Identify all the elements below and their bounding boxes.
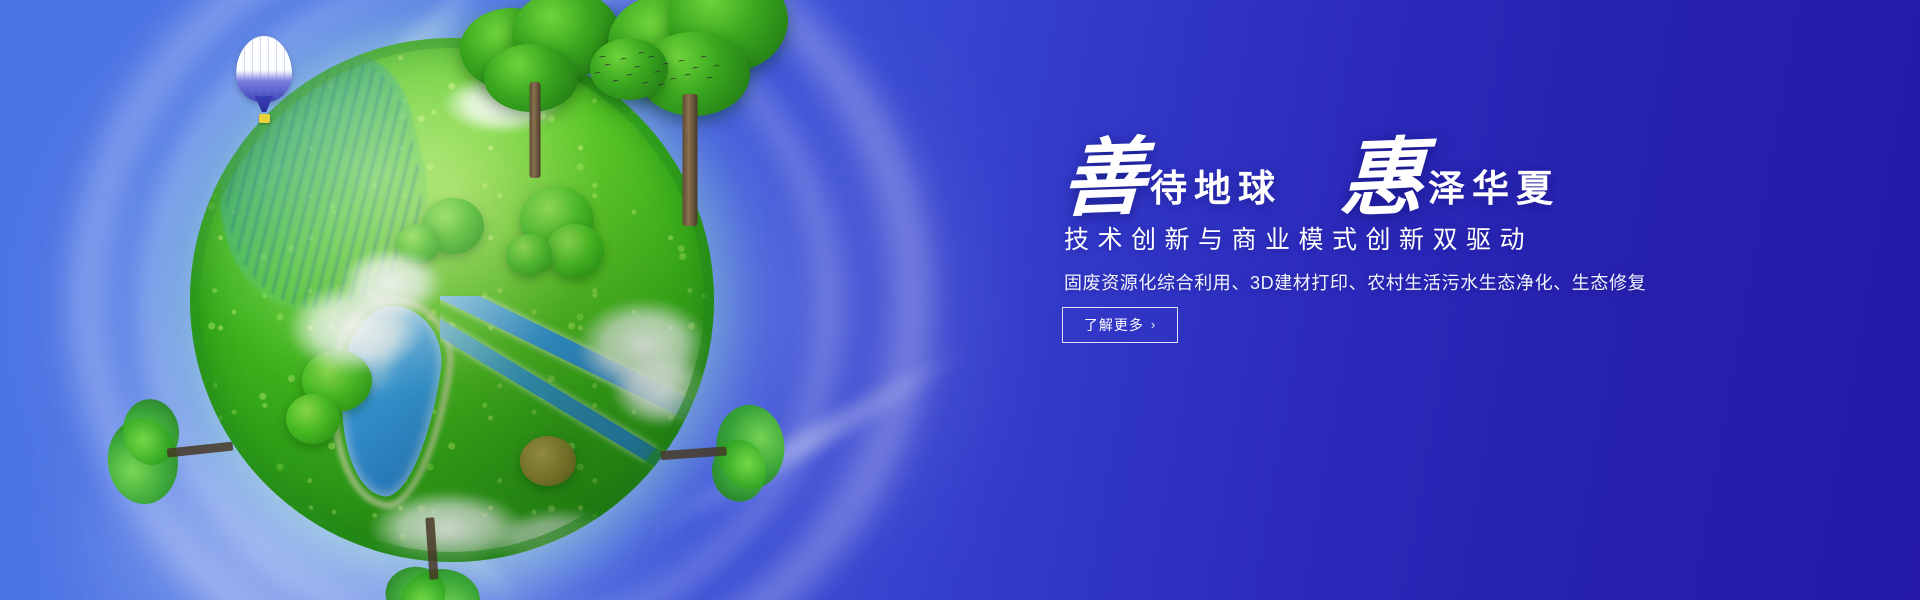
description-text: 固废资源化综合利用、3D建材打印、农村生活污水生态净化、生态修复 [1064,270,1646,297]
forest-clump [422,198,484,254]
hero-banner: 善 待地球 惠 泽华夏 技术创新与商业模式创新双驱动 固废资源化综合利用、3D建… [0,0,1920,600]
planet-cloud [286,282,426,374]
tree-icon [362,502,491,600]
bird-flock-icon [592,50,722,92]
headline-rest: 待地球 [1150,170,1282,207]
headline-rest: 泽华夏 [1428,170,1560,207]
planet-cloud [576,298,712,394]
lake [327,300,449,502]
sandy-patch [520,436,576,486]
headline-lead-char: 惠 [1338,135,1425,222]
hot-air-balloon-icon [236,36,292,132]
chevron-right-icon: › [1151,318,1156,331]
tree-icon [590,0,790,218]
forest-clump [286,394,340,444]
lake-shoreline [314,289,462,516]
tree-trunk [530,82,541,178]
balloon-taper [255,96,273,112]
forest-clump [506,234,552,276]
page-title: 善 待地球 惠 泽华夏 [1062,136,1560,220]
learn-more-label: 了解更多 [1084,315,1144,335]
balloon-basket [259,114,270,123]
balloon-envelope [236,36,292,102]
forest-clump [520,186,594,254]
headline-phrase-1: 善 待地球 [1062,136,1282,220]
tree-icon [101,385,243,518]
planet-cloud [340,248,444,318]
headline-phrase-2: 惠 泽华夏 [1340,136,1560,220]
headline-lead-char: 善 [1060,135,1147,222]
forest-clump [302,350,372,412]
tree-icon [651,393,789,522]
forest-clump [546,224,604,278]
forest-clump [396,224,440,264]
tree-trunk [683,94,698,226]
learn-more-button[interactable]: 了解更多 › [1062,307,1178,343]
subtitle: 技术创新与商业模式创新双驱动 [1064,228,1533,253]
banner-content: 善 待地球 惠 泽华夏 技术创新与商业模式创新双驱动 固废资源化综合利用、3D建… [1062,0,1782,600]
